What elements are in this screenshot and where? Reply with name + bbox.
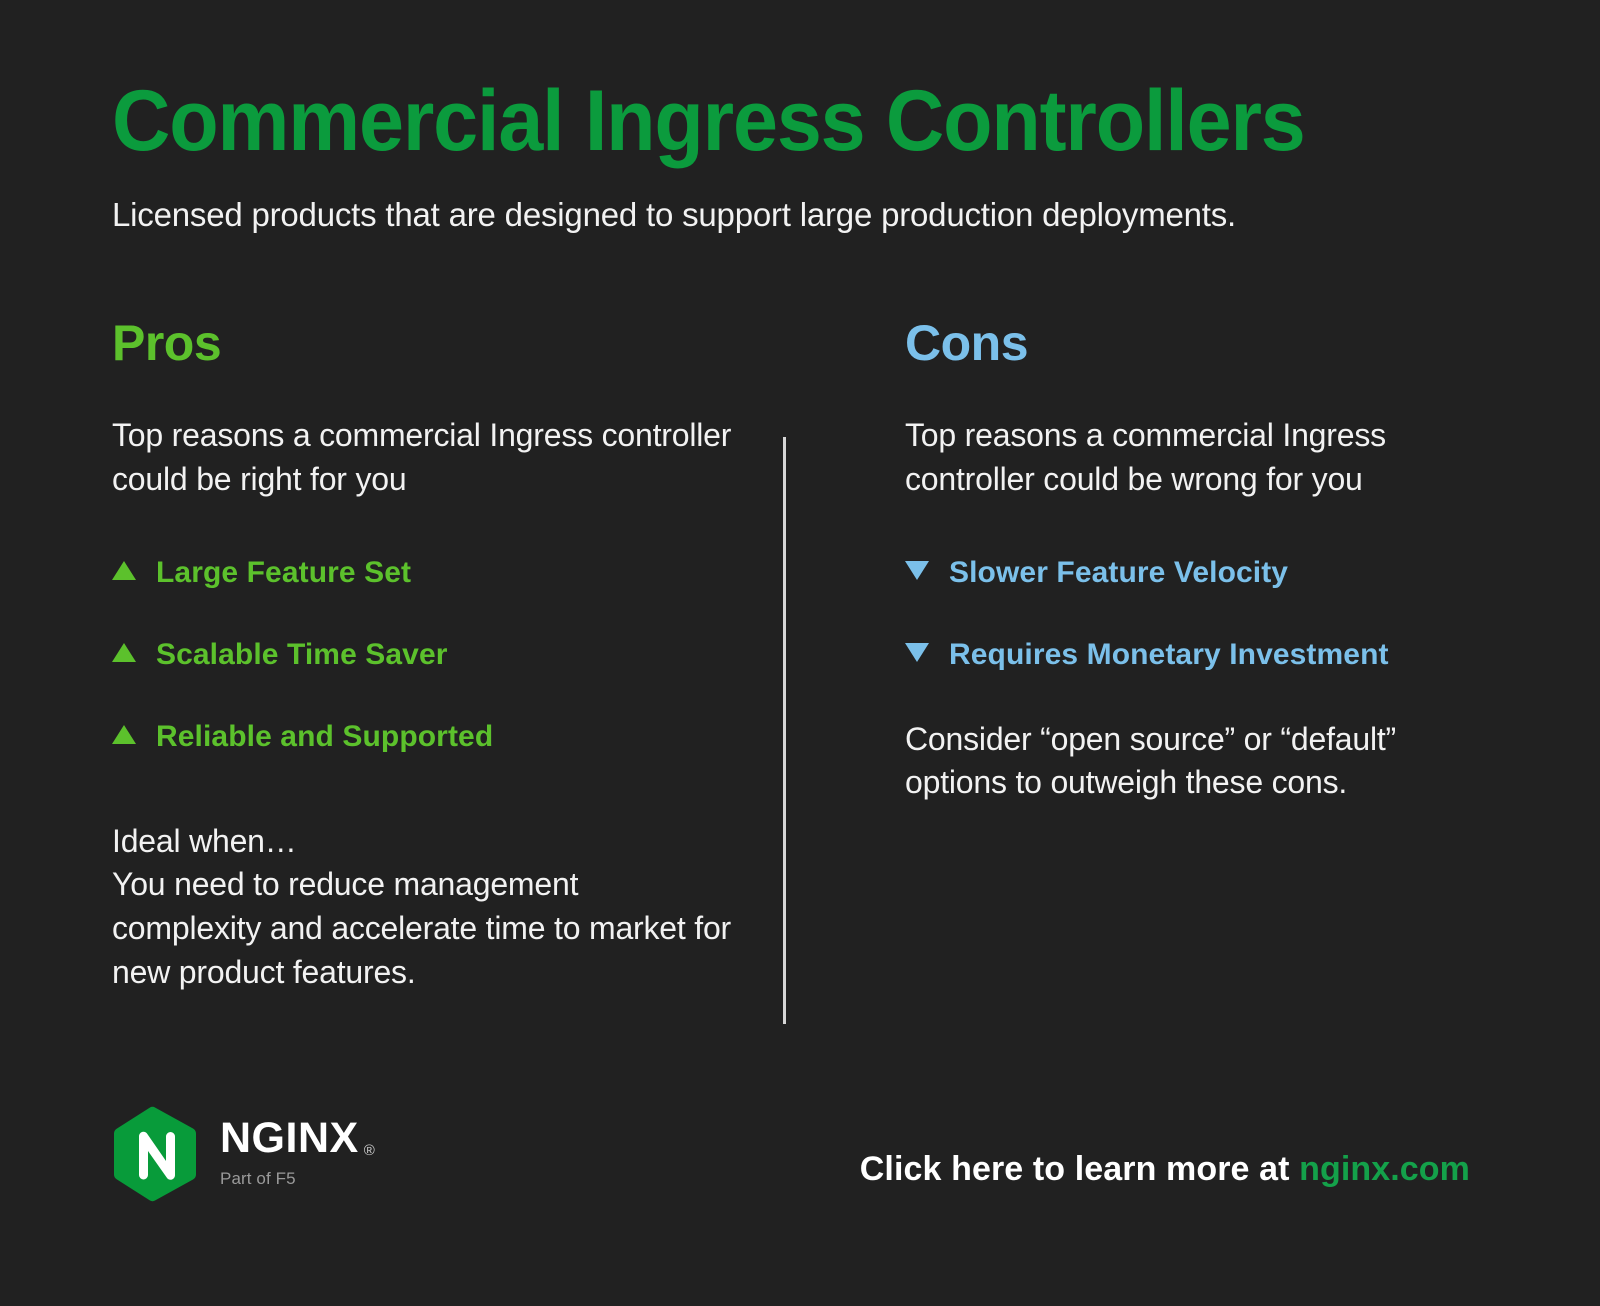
list-item: Large Feature Set bbox=[112, 558, 732, 640]
nginx-wordmark-label: NGINX bbox=[220, 1117, 359, 1160]
cta-link[interactable]: nginx.com bbox=[1299, 1150, 1470, 1188]
list-item: Reliable and Supported bbox=[112, 722, 732, 752]
cons-footer-text: Consider “open source” or “default” opti… bbox=[905, 670, 1485, 806]
nginx-logo-text: NGINX ® Part of F5 bbox=[220, 1117, 375, 1191]
page-title: Commercial Ingress Controllers bbox=[112, 78, 1428, 166]
cons-bullet-label: Slower Feature Velocity bbox=[949, 558, 1288, 588]
footer: NGINX ® Part of F5 Click here to learn m… bbox=[0, 1098, 1600, 1218]
list-item: Requires Monetary Investment bbox=[905, 640, 1485, 670]
pros-bullet-list: Large Feature Set Scalable Time Saver Re… bbox=[112, 502, 732, 752]
pros-column: Pros Top reasons a commercial Ingress co… bbox=[112, 318, 732, 995]
triangle-up-icon bbox=[112, 725, 136, 744]
cons-lede: Top reasons a commercial Ingress control… bbox=[905, 368, 1485, 502]
cta-text: Click here to learn more at bbox=[860, 1150, 1290, 1188]
pros-bullet-label: Scalable Time Saver bbox=[156, 640, 448, 670]
registered-mark-icon: ® bbox=[364, 1143, 376, 1158]
triangle-down-icon bbox=[905, 643, 929, 662]
nginx-logo: NGINX ® Part of F5 bbox=[112, 1106, 375, 1202]
cons-bullet-label: Requires Monetary Investment bbox=[949, 640, 1389, 670]
triangle-up-icon bbox=[112, 561, 136, 580]
pros-lede: Top reasons a commercial Ingress control… bbox=[112, 368, 732, 502]
triangle-down-icon bbox=[905, 561, 929, 580]
columns-region: Pros Top reasons a commercial Ingress co… bbox=[0, 318, 1600, 1038]
nginx-hexagon-icon bbox=[112, 1106, 198, 1202]
header: Commercial Ingress Controllers Licensed … bbox=[112, 78, 1512, 234]
nginx-tagline: Part of F5 bbox=[220, 1160, 375, 1189]
pros-footer-text: Ideal when… You need to reduce managemen… bbox=[112, 752, 732, 995]
page-subtitle: Licensed products that are designed to s… bbox=[112, 166, 1512, 234]
column-divider bbox=[783, 437, 786, 1024]
nginx-wordmark: NGINX ® bbox=[220, 1117, 375, 1160]
cta-learn-more[interactable]: Click here to learn more at nginx.com bbox=[860, 1150, 1470, 1189]
pros-bullet-label: Reliable and Supported bbox=[156, 722, 493, 752]
list-item: Scalable Time Saver bbox=[112, 640, 732, 722]
cons-heading: Cons bbox=[905, 318, 1485, 368]
infographic-canvas: Commercial Ingress Controllers Licensed … bbox=[0, 0, 1600, 1306]
list-item: Slower Feature Velocity bbox=[905, 558, 1485, 640]
cons-bullet-list: Slower Feature Velocity Requires Monetar… bbox=[905, 502, 1485, 670]
pros-heading: Pros bbox=[112, 318, 732, 368]
pros-bullet-label: Large Feature Set bbox=[156, 558, 411, 588]
cons-column: Cons Top reasons a commercial Ingress co… bbox=[905, 318, 1485, 805]
triangle-up-icon bbox=[112, 643, 136, 662]
